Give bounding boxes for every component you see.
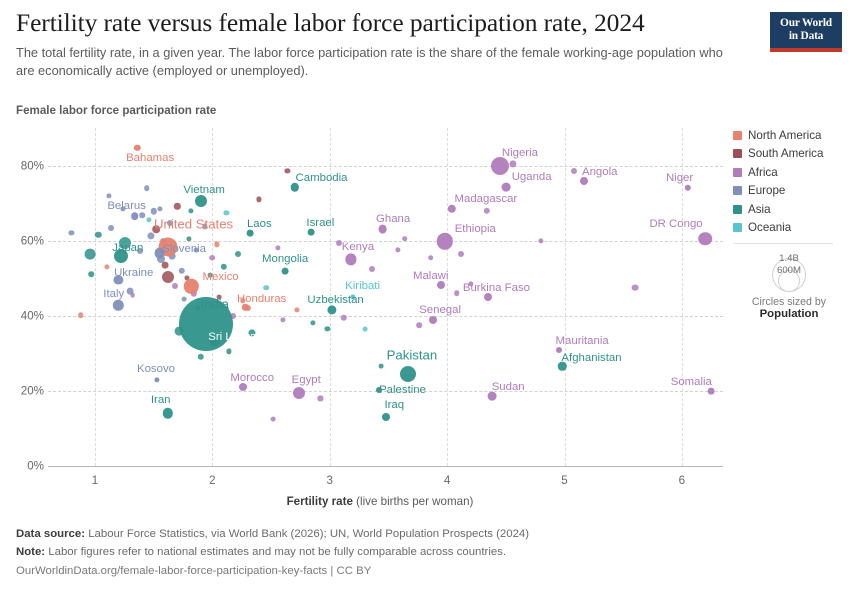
data-point-unlabeled[interactable]	[95, 232, 101, 238]
data-point[interactable]	[378, 225, 387, 234]
data-point-unlabeled[interactable]	[428, 255, 434, 261]
gridline-y-40	[48, 316, 723, 317]
data-point-unlabeled[interactable]	[89, 272, 95, 278]
data-point-unlabeled[interactable]	[162, 262, 169, 269]
y-tick-label: 80%	[6, 159, 44, 172]
point-label: Kenya	[342, 241, 374, 253]
x-axis-title-unit: (live births per woman)	[353, 495, 473, 508]
y-tick-label: 60%	[6, 234, 44, 247]
data-point[interactable]	[437, 233, 453, 249]
data-point-unlabeled[interactable]	[275, 246, 280, 251]
legend-item-africa[interactable]: Africa	[733, 165, 845, 180]
data-point-unlabeled[interactable]	[167, 220, 173, 226]
x-tick-label: 3	[327, 474, 333, 487]
data-point[interactable]	[484, 293, 492, 301]
data-point-unlabeled[interactable]	[182, 296, 187, 301]
data-point-unlabeled[interactable]	[294, 308, 299, 313]
data-point[interactable]	[448, 205, 456, 213]
data-point-unlabeled[interactable]	[458, 251, 464, 257]
data-point[interactable]	[491, 157, 509, 175]
point-label: Laos	[247, 218, 272, 230]
chart-subtitle: The total fertility rate, in a given yea…	[16, 44, 738, 80]
data-point[interactable]	[131, 212, 139, 220]
legend-item-north-america[interactable]: North America	[733, 128, 845, 143]
data-point-unlabeled[interactable]	[210, 255, 216, 261]
legend-item-asia[interactable]: Asia	[733, 202, 845, 217]
data-point-unlabeled[interactable]	[538, 238, 543, 243]
data-point[interactable]	[556, 347, 562, 353]
point-label: Mongolia	[262, 253, 308, 265]
data-point-unlabeled[interactable]	[264, 285, 270, 291]
x-tick-label: 2	[209, 474, 215, 487]
data-point[interactable]	[429, 316, 437, 324]
y-tick-label: 0%	[6, 460, 44, 473]
data-point[interactable]	[114, 276, 123, 285]
point-label: Bahamas	[126, 152, 174, 164]
x-tick-label: 1	[92, 474, 98, 487]
gridline-x-1	[95, 128, 96, 466]
data-point-unlabeled[interactable]	[85, 248, 96, 259]
data-point-unlabeled[interactable]	[104, 264, 109, 269]
point-label: Vietnam	[183, 184, 225, 196]
data-point-unlabeled[interactable]	[139, 212, 145, 218]
point-label: Niger	[666, 172, 693, 184]
data-point-unlabeled[interactable]	[189, 208, 194, 213]
point-label: Iraq	[384, 399, 404, 411]
footer-note-label: Note:	[16, 546, 45, 558]
data-point[interactable]	[163, 408, 173, 418]
data-point-unlabeled[interactable]	[395, 247, 400, 252]
data-point[interactable]	[437, 281, 445, 289]
data-point[interactable]	[293, 387, 305, 399]
data-point[interactable]	[699, 232, 713, 246]
data-point[interactable]	[155, 377, 160, 382]
data-point[interactable]	[685, 185, 691, 191]
size-label-outer: 1.4B	[779, 253, 799, 264]
data-point[interactable]	[580, 177, 588, 185]
data-point-unlabeled[interactable]	[152, 226, 160, 234]
y-axis-title: Female labor force participation rate	[16, 104, 216, 117]
point-label: Iran	[151, 394, 171, 406]
chart-page: Fertility rate versus female labor force…	[0, 0, 850, 600]
gridline-y-20	[48, 391, 723, 392]
data-point[interactable]	[345, 254, 356, 265]
gridline-x-3	[330, 128, 331, 466]
y-tick-label: 20%	[6, 384, 44, 397]
data-point[interactable]	[327, 306, 336, 315]
data-point[interactable]	[400, 366, 416, 382]
footer-source-text: Labour Force Statistics, via World Bank …	[88, 528, 529, 540]
chart-header: Fertility rate versus female labor force…	[16, 8, 756, 81]
legend-item-south-america[interactable]: South America	[733, 146, 845, 161]
footer-link[interactable]: OurWorldinData.org/female-labor-force-pa…	[16, 562, 776, 580]
gridline-x-6	[682, 128, 683, 466]
legend-swatch	[733, 223, 742, 232]
data-point-unlabeled[interactable]	[632, 284, 639, 291]
data-point-unlabeled[interactable]	[416, 322, 422, 328]
point-label: Senegal	[419, 304, 461, 316]
point-label: Somalia	[671, 376, 712, 388]
data-point[interactable]	[382, 413, 390, 421]
data-point-unlabeled[interactable]	[226, 349, 231, 354]
x-axis-title-main: Fertility rate	[287, 495, 353, 508]
point-label: Ethiopia	[455, 223, 496, 235]
legend-swatch	[733, 131, 742, 140]
data-point[interactable]	[247, 230, 254, 237]
data-point-unlabeled[interactable]	[571, 168, 577, 174]
x-axis-title: Fertility rate (live births per woman)	[0, 495, 760, 508]
data-point-unlabeled[interactable]	[454, 290, 460, 296]
data-point-unlabeled[interactable]	[318, 396, 323, 401]
data-point-unlabeled[interactable]	[363, 327, 368, 332]
point-label: Cambodia	[296, 172, 348, 184]
data-point[interactable]	[239, 383, 247, 391]
legend-item-oceania[interactable]: Oceania	[733, 220, 845, 235]
data-point-unlabeled[interactable]	[285, 169, 290, 174]
size-legend-variable: Population	[733, 308, 845, 320]
point-label: Belarus	[107, 200, 146, 212]
data-point-unlabeled[interactable]	[257, 197, 262, 202]
point-label: DR Congo	[649, 218, 702, 230]
data-point[interactable]	[308, 229, 315, 236]
point-label: Uganda	[512, 171, 552, 183]
continent-legend[interactable]: North AmericaSouth AmericaAfricaEuropeAs…	[733, 128, 845, 238]
size-legend: 1.4B 600M Circles sized by Population	[733, 243, 845, 320]
data-point-unlabeled[interactable]	[194, 248, 199, 253]
point-label: Kiribati	[345, 280, 380, 292]
data-point[interactable]	[376, 387, 382, 393]
gridline-x-4	[447, 128, 448, 466]
data-point[interactable]	[290, 183, 298, 191]
data-point-unlabeled[interactable]	[197, 354, 203, 360]
data-point[interactable]	[487, 391, 496, 400]
legend-label: North America	[748, 129, 821, 142]
point-label: Ghana	[376, 213, 410, 225]
owid-logo-line1: Our World	[770, 17, 842, 30]
data-point[interactable]	[282, 267, 289, 274]
data-point-unlabeled[interactable]	[369, 266, 375, 272]
data-point-unlabeled[interactable]	[208, 273, 213, 278]
point-label: Angola	[582, 166, 617, 178]
data-point-unlabeled[interactable]	[468, 281, 473, 286]
footer-note-row: Note: Labor figures refer to national es…	[16, 543, 776, 561]
legend-label: Asia	[748, 203, 771, 216]
data-point[interactable]	[114, 249, 128, 263]
page-title: Fertility rate versus female labor force…	[16, 8, 756, 37]
point-label: Malawi	[413, 270, 448, 282]
scatter-plot: BahamasNigeriaUgandaAngolaNigerCambodiaV…	[0, 120, 850, 475]
point-label: Egypt	[292, 374, 321, 386]
data-point-unlabeled[interactable]	[402, 236, 408, 242]
footer-source-label: Data source:	[16, 528, 85, 540]
size-legend-circles: 1.4B 600M	[733, 252, 845, 294]
data-point-unlabeled[interactable]	[174, 203, 180, 209]
legend-swatch	[733, 186, 742, 195]
point-label: Nigeria	[502, 147, 538, 159]
size-label-inner: 600M	[777, 265, 801, 276]
owid-logo-line2: in Data	[770, 30, 842, 43]
footer-note-text: Labor figures refer to national estimate…	[48, 546, 506, 558]
data-point-unlabeled[interactable]	[240, 298, 246, 304]
point-label: Madagascar	[455, 193, 518, 205]
size-legend-caption: Circles sized by	[733, 296, 845, 308]
data-point-unlabeled[interactable]	[119, 237, 131, 249]
data-point-unlabeled[interactable]	[146, 217, 151, 222]
legend-label: Oceania	[748, 221, 791, 234]
data-point-unlabeled[interactable]	[336, 240, 342, 246]
legend-item-europe[interactable]: Europe	[733, 183, 845, 198]
point-label: United States	[154, 216, 233, 231]
data-point[interactable]	[134, 144, 140, 150]
data-point-unlabeled[interactable]	[484, 207, 490, 213]
data-point-unlabeled[interactable]	[179, 268, 185, 274]
point-label: Morocco	[230, 372, 274, 384]
data-point-unlabeled[interactable]	[144, 185, 150, 191]
legend-swatch	[733, 168, 742, 177]
data-point-unlabeled[interactable]	[221, 264, 227, 270]
x-tick-label: 6	[679, 474, 685, 487]
point-label: Pakistan	[387, 348, 438, 363]
legend-divider	[733, 243, 833, 244]
legend-label: South America	[748, 147, 823, 160]
data-point-unlabeled[interactable]	[78, 312, 84, 318]
x-tick-label: 5	[561, 474, 567, 487]
data-point-unlabeled[interactable]	[311, 321, 316, 326]
data-point-unlabeled[interactable]	[69, 231, 74, 236]
data-point[interactable]	[154, 248, 165, 259]
data-point-unlabeled[interactable]	[224, 210, 229, 215]
data-point-unlabeled[interactable]	[271, 417, 276, 422]
data-point[interactable]	[708, 387, 715, 394]
legend-swatch	[733, 205, 742, 214]
data-point-unlabeled[interactable]	[341, 314, 347, 320]
data-point[interactable]	[501, 183, 510, 192]
data-point-unlabeled[interactable]	[121, 206, 126, 211]
legend-swatch	[733, 149, 742, 158]
data-point-unlabeled[interactable]	[249, 329, 256, 336]
data-point-unlabeled[interactable]	[203, 224, 208, 229]
y-tick-label: 40%	[6, 309, 44, 322]
data-point-unlabeled[interactable]	[137, 248, 143, 254]
point-label: Afghanistan	[561, 352, 621, 364]
point-label: Italy	[103, 288, 124, 300]
data-point-unlabeled[interactable]	[280, 317, 285, 322]
point-label: Kosovo	[137, 363, 175, 375]
data-point[interactable]	[351, 294, 356, 299]
data-point-unlabeled[interactable]	[172, 283, 178, 289]
legend-label: Europe	[748, 184, 785, 197]
data-point-unlabeled[interactable]	[162, 271, 174, 283]
gridline-y-80	[48, 166, 723, 167]
data-point-unlabeled[interactable]	[148, 233, 155, 240]
gridline-x-5	[565, 128, 566, 466]
gridline-y-60	[48, 241, 723, 242]
chart-footer: Data source: Labour Force Statistics, vi…	[16, 525, 776, 580]
data-point-unlabeled[interactable]	[235, 251, 241, 257]
data-point-unlabeled[interactable]	[106, 193, 111, 198]
owid-logo[interactable]: Our World in Data	[770, 12, 842, 52]
x-tick-label: 4	[444, 474, 450, 487]
data-point[interactable]	[195, 195, 207, 207]
footer-source-row: Data source: Labour Force Statistics, vi…	[16, 525, 776, 543]
data-point[interactable]	[179, 297, 233, 351]
point-label: Mauritania	[556, 335, 609, 347]
data-point-unlabeled[interactable]	[108, 225, 114, 231]
data-point-unlabeled[interactable]	[214, 242, 219, 247]
gridline-y-0	[48, 466, 723, 467]
data-point[interactable]	[113, 300, 123, 310]
point-label: Palestine	[379, 384, 426, 396]
data-point-unlabeled[interactable]	[379, 364, 384, 369]
legend-label: Africa	[748, 166, 778, 179]
data-point-unlabeled[interactable]	[130, 293, 135, 298]
data-point-unlabeled[interactable]	[150, 208, 156, 214]
data-point-unlabeled[interactable]	[157, 207, 162, 212]
